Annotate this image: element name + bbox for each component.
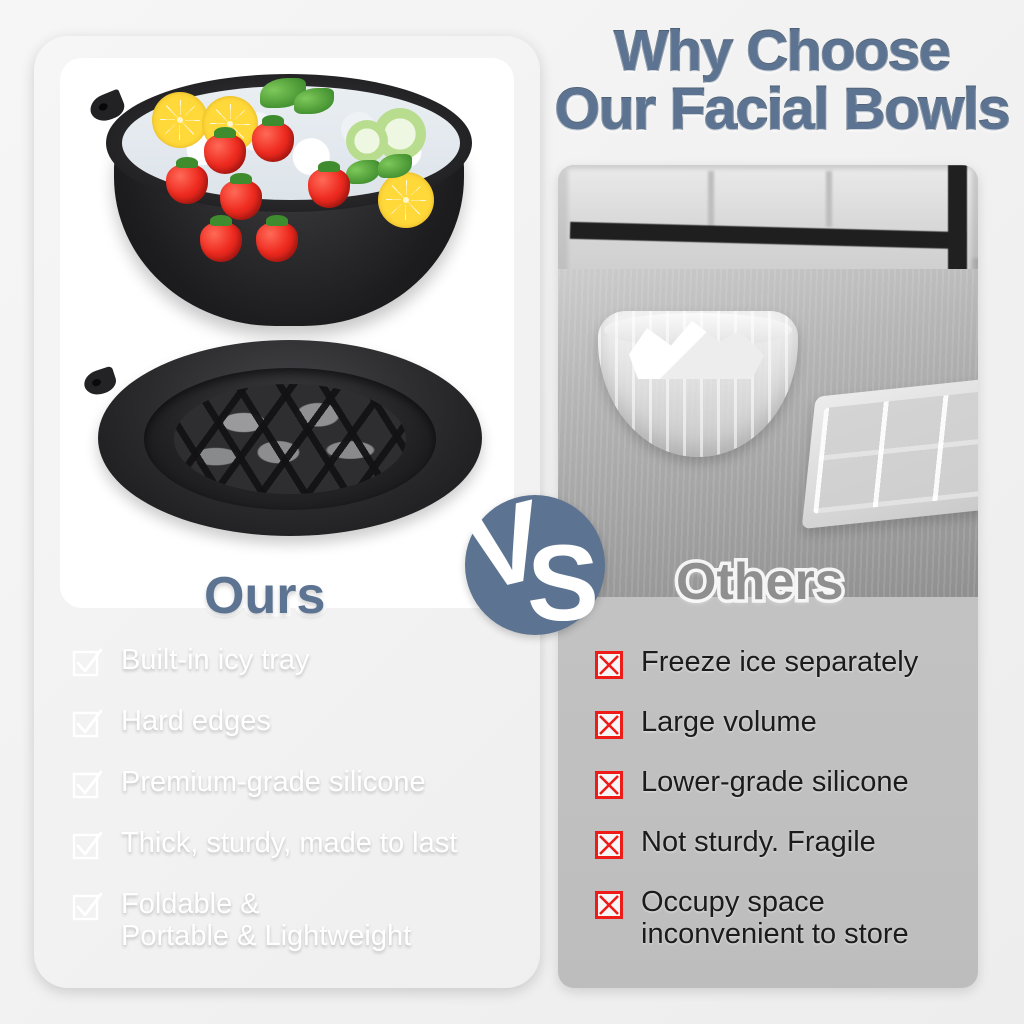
- check-box-icon: [72, 831, 102, 861]
- list-item: Premium-grade silicone: [72, 766, 524, 800]
- cross-box-icon: [595, 891, 623, 919]
- title-line-2: Our Facial Bowls: [540, 80, 1024, 139]
- list-item-label: Freeze ice separately: [641, 646, 918, 678]
- list-item-label: Large volume: [641, 706, 817, 738]
- list-item-label: Not sturdy. Fragile: [641, 826, 876, 858]
- list-item: Occupy space inconvenient to store: [595, 886, 995, 951]
- infographic-canvas: Why Choose Our Facial Bowls: [0, 0, 1024, 1024]
- lid-outer-ring: [98, 340, 482, 536]
- list-item-label: Foldable & Portable & Lightweight: [121, 888, 411, 953]
- honeycomb-icy-tray-icon: [174, 384, 406, 494]
- list-item: Foldable & Portable & Lightweight: [72, 888, 524, 953]
- list-item: Thick, sturdy, made to last: [72, 827, 524, 861]
- cucumber-slice-icon: [346, 120, 388, 162]
- ice-cube-tray-icon: [802, 375, 978, 529]
- others-heading: Others: [676, 552, 844, 612]
- vs-badge-circle: [465, 495, 605, 635]
- window-mullion: [708, 171, 714, 227]
- list-item-label: Premium-grade silicone: [121, 766, 426, 798]
- list-item: Not sturdy. Fragile: [595, 826, 995, 859]
- cross-box-icon: [595, 711, 623, 739]
- cross-box-icon: [595, 771, 623, 799]
- others-product-photo: [558, 165, 978, 597]
- list-item-label: Occupy space inconvenient to store: [641, 886, 909, 951]
- list-item: Freeze ice separately: [595, 646, 995, 679]
- silicone-bowl-image: [78, 64, 498, 364]
- list-item-label: Hard edges: [121, 705, 271, 737]
- list-item: Built-in icy tray: [72, 644, 524, 678]
- lemon-slice-icon: [378, 172, 434, 228]
- lid-inner-ring: [144, 368, 436, 510]
- title-line-1: Why Choose: [540, 22, 1024, 80]
- list-item: Hard edges: [72, 705, 524, 739]
- steel-counter: [558, 269, 978, 597]
- window-mullion: [826, 171, 832, 227]
- collapsible-lid-image: [82, 326, 498, 576]
- lemon-slice-icon: [152, 92, 208, 148]
- check-box-icon: [72, 770, 102, 800]
- list-item: Lower-grade silicone: [595, 766, 995, 799]
- ours-product-photo: [60, 58, 514, 608]
- check-box-icon: [72, 892, 102, 922]
- check-box-icon: [72, 709, 102, 739]
- list-item-label: Built-in icy tray: [121, 644, 310, 676]
- ours-feature-list: Built-in icy tray Hard edges Premium-gra…: [72, 644, 524, 953]
- list-item: Large volume: [595, 706, 995, 739]
- cross-box-icon: [595, 651, 623, 679]
- page-title: Why Choose Our Facial Bowls: [540, 22, 1024, 139]
- list-item-label: Lower-grade silicone: [641, 766, 909, 798]
- others-feature-list: Freeze ice separately Large volume Lower…: [595, 646, 995, 951]
- cross-box-icon: [595, 831, 623, 859]
- check-box-icon: [72, 648, 102, 678]
- window-background: [568, 169, 972, 273]
- lid-handle-tab: [81, 366, 119, 399]
- list-item-label: Thick, sturdy, made to last: [121, 827, 457, 859]
- ours-heading: Ours: [204, 566, 325, 626]
